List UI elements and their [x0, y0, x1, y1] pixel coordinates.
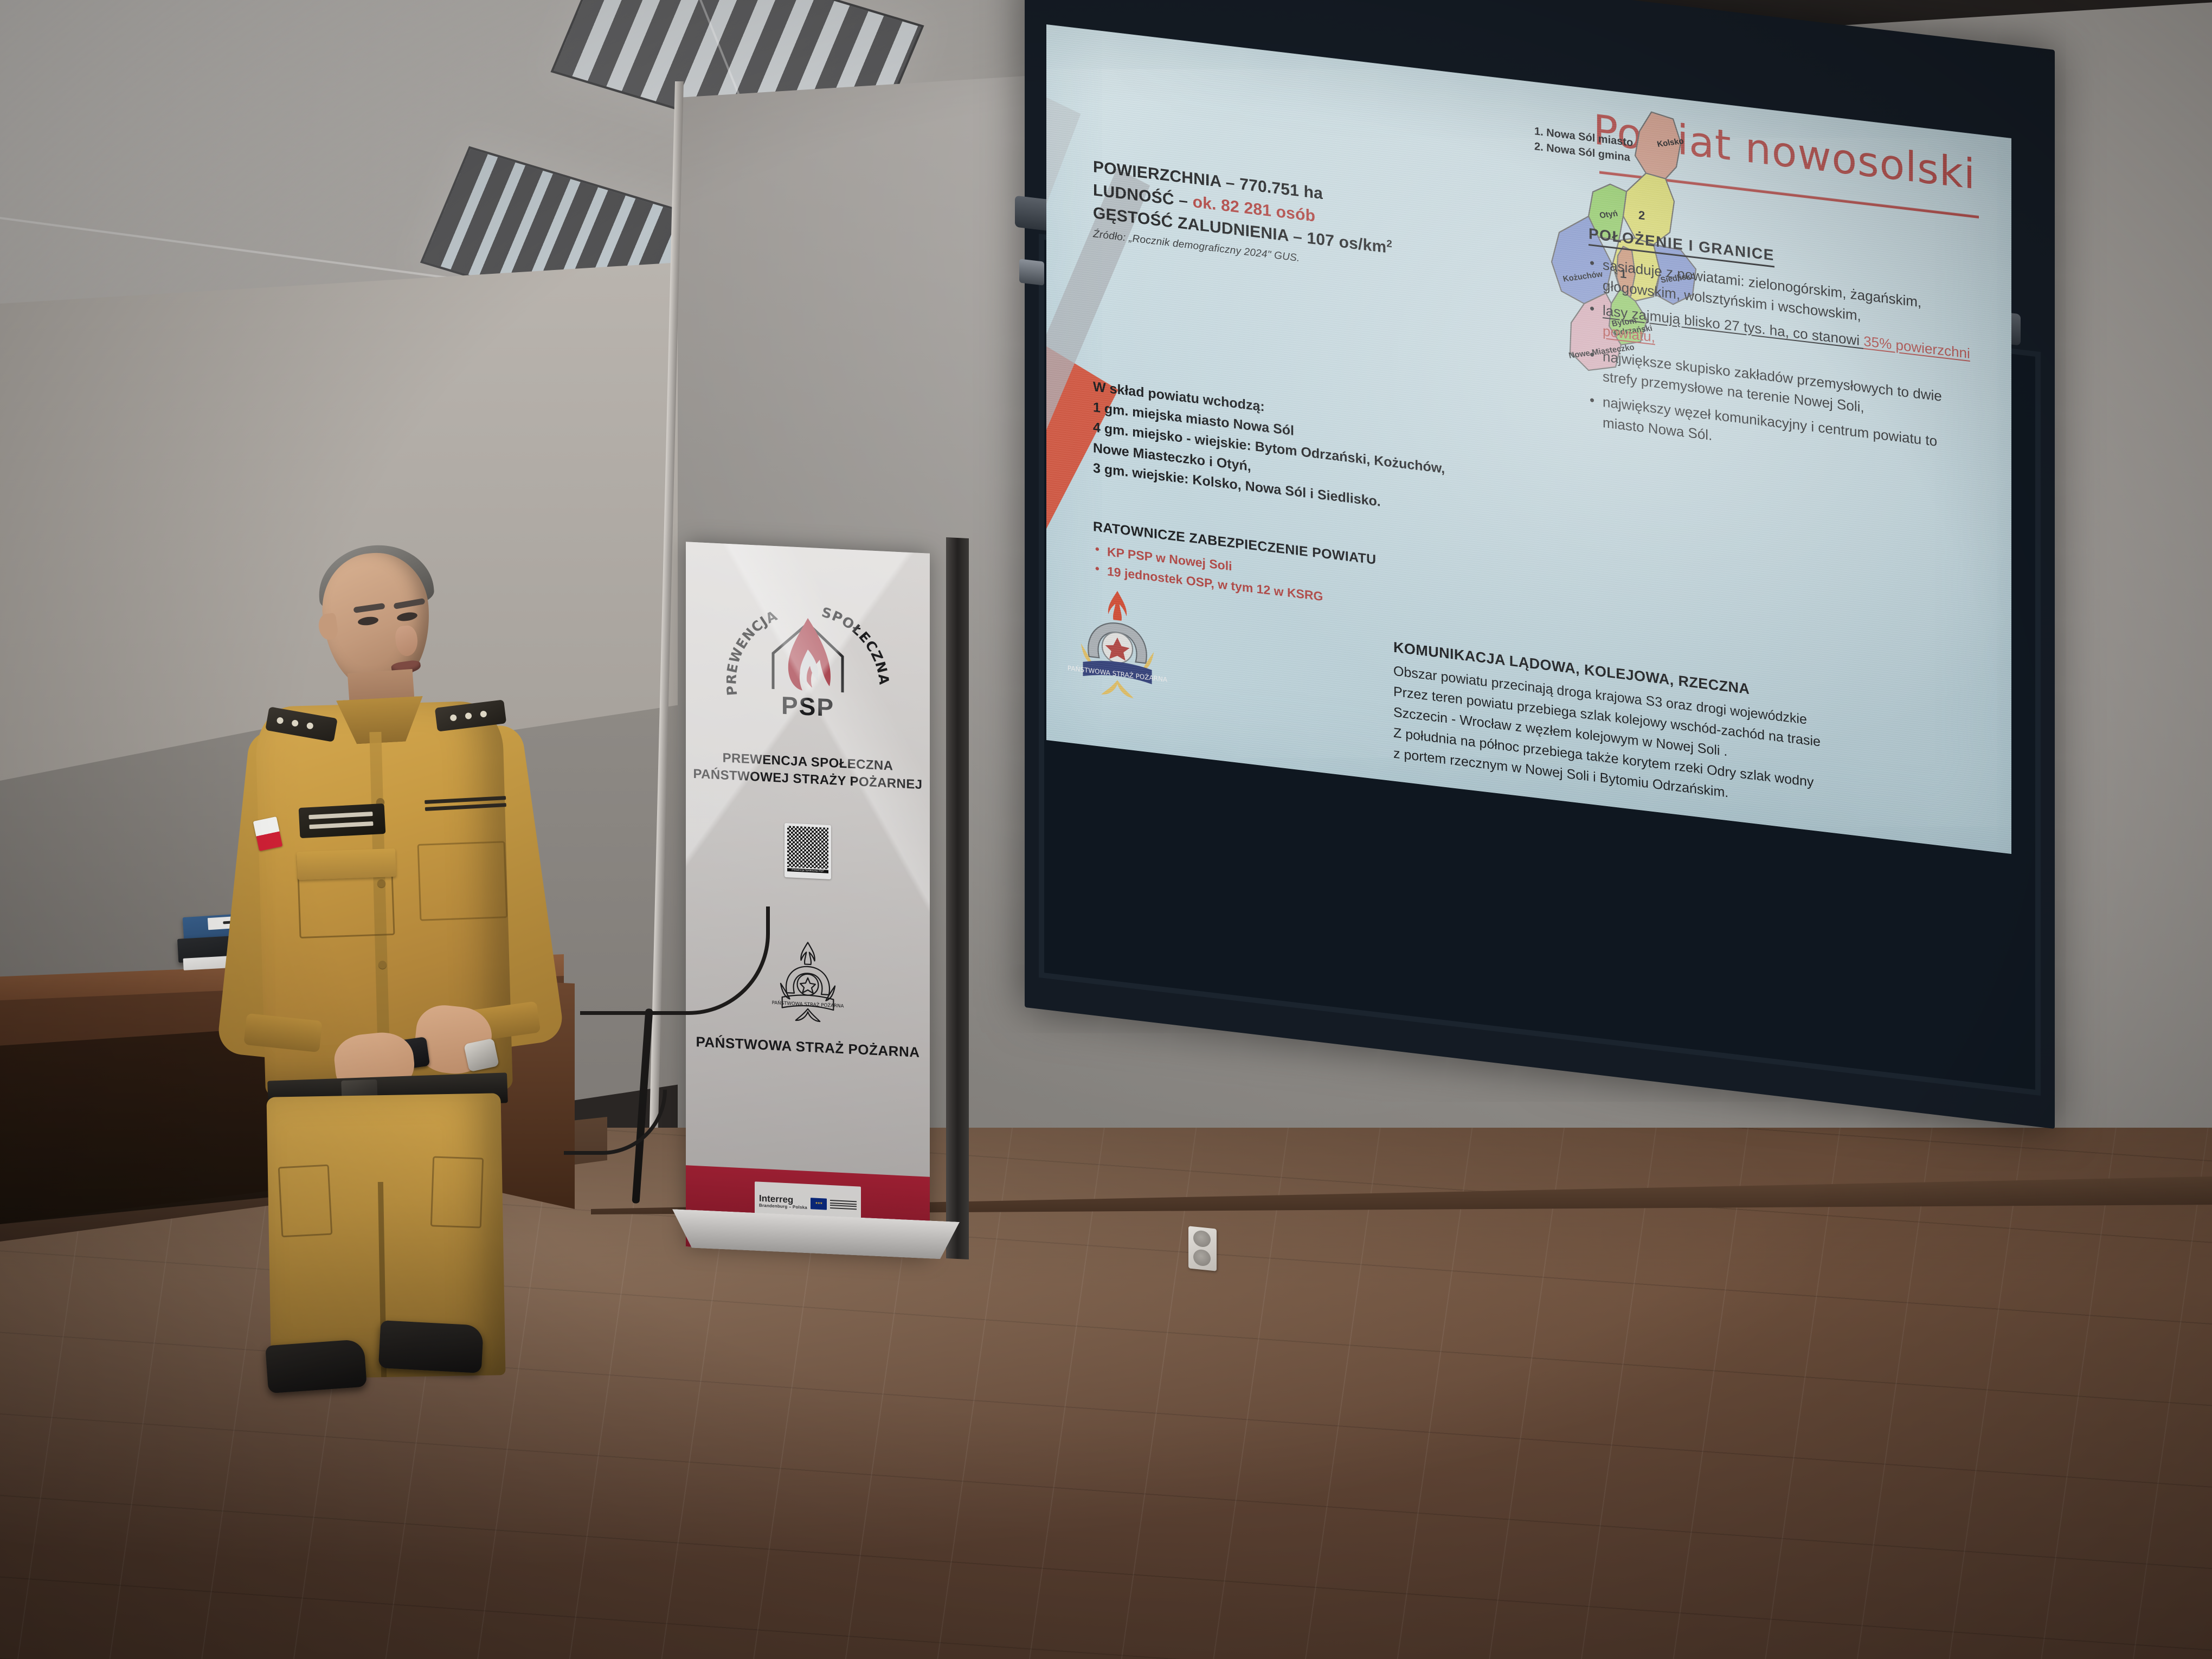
qr-caption: Prewencja Społeczna PSP: [787, 868, 828, 873]
banner-subtitle: PREWENCJA SPOŁECZNA PAŃSTWOWEJ STRAŻY PO…: [686, 748, 930, 794]
rollup-banner: PREWENCJA SPOŁECZNA PSP PREWENCJA SPOŁEC…: [686, 542, 930, 1258]
rank-star: [465, 712, 472, 719]
power-outlet[interactable]: [1188, 1226, 1217, 1271]
psp-prevention-logo: PREWENCJA SPOŁECZNA PSP: [726, 586, 889, 751]
rank-star: [480, 710, 487, 717]
rank-star: [276, 717, 284, 724]
shirt-button: [378, 961, 387, 969]
chest-inscription: [425, 796, 507, 821]
cargo-pocket-right: [430, 1156, 484, 1228]
map-label-nowa-sol-gmina: 2: [1638, 208, 1645, 223]
psp-emblem-icon: PAŃSTWOWA STRAŻ POŻARNA: [1066, 581, 1169, 709]
psp-emblem-outline-icon: PAŃSTWOWA STRAŻ POŻARNA: [770, 936, 846, 1027]
interreg-rule-lines: [830, 1200, 857, 1210]
rank-star: [450, 714, 457, 721]
banner-support-pole: [946, 537, 969, 1259]
shoe-left: [265, 1339, 367, 1393]
presentation-slide: PAŃSTWOWA STRAŻ POŻARNA Powiat nowosolsk…: [1046, 24, 2011, 854]
qr-cell-matrix: [787, 826, 828, 869]
logo-arc-svg: PREWENCJA SPOŁECZNA: [726, 586, 889, 756]
outlet-socket-bottom: [1193, 1249, 1211, 1266]
cargo-pocket-left: [278, 1165, 333, 1238]
slide-stats-block: POWIERZCHNIA – 770.751 ha LUDNOŚĆ – ok. …: [1093, 156, 1505, 290]
outlet-socket-top: [1193, 1230, 1211, 1248]
name-tag: [299, 803, 386, 838]
qr-code[interactable]: Prewencja Społeczna PSP: [785, 823, 831, 879]
chest-pocket-right: [417, 841, 508, 921]
screen-roller-endcap: [1019, 259, 1044, 285]
chest-pocket-flap: [297, 848, 396, 880]
interreg-program: Brandenburg – Polska: [759, 1203, 807, 1210]
eu-flag-icon: [811, 1198, 827, 1210]
stat-density-exponent: 2: [1386, 237, 1392, 249]
rank-star: [291, 719, 299, 727]
interreg-text: Interreg Brandenburg – Polska: [759, 1194, 807, 1211]
shoe-right: [378, 1320, 484, 1373]
presenter-person: [217, 553, 607, 1399]
rank-star: [306, 722, 314, 730]
slide-composition-block: W skład powiatu wchodzą: 1 gm. miejska m…: [1093, 377, 1559, 533]
banner-organization-name: PAŃSTWOWA STRAŻ POŻARNA: [686, 1033, 930, 1062]
room-scene: PAŃSTWOWA STRAŻ POŻARNA Powiat nowosolsk…: [0, 0, 2212, 1659]
ear: [317, 613, 339, 641]
